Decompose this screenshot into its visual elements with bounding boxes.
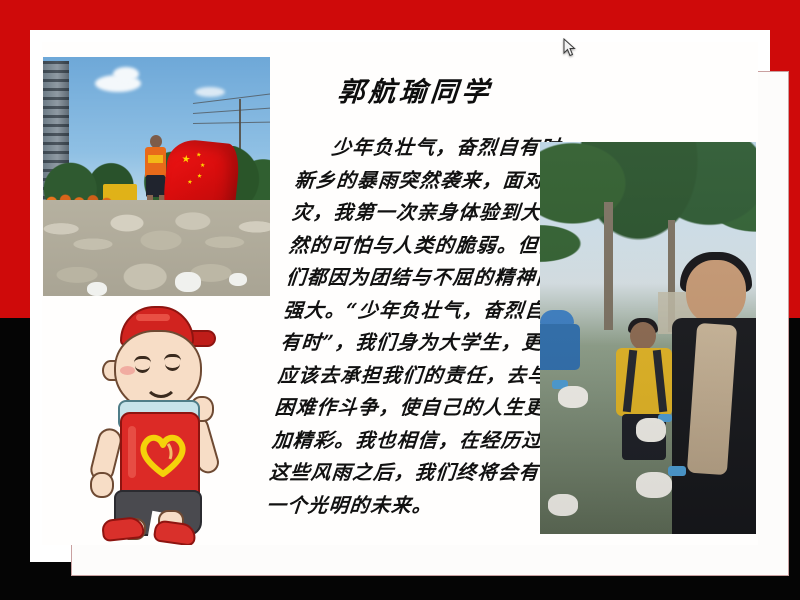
- glove-cuff: [668, 466, 686, 476]
- text-line: 强大。“少年负壮气，奋烈自: [282, 295, 551, 328]
- mascot-vest: [120, 412, 200, 498]
- text-line: 们都因为团结与不屈的精神而: [285, 262, 554, 295]
- text-line: 有时”，我们身为大学生，更: [279, 327, 548, 360]
- white-sandbag: [175, 272, 201, 292]
- text-line: 然的可怕与人类的脆弱。但我: [288, 230, 557, 263]
- volunteer-head: [686, 260, 746, 324]
- volunteer-foreground: [668, 260, 756, 534]
- person-vest: [145, 147, 166, 177]
- white-sandbag: [229, 273, 247, 286]
- photo-flag-on-sandbags[interactable]: ★ ★ ★ ★ ★: [43, 57, 270, 296]
- text-line: 一个光明的未来。: [265, 490, 534, 523]
- flag-star: ★: [181, 157, 191, 164]
- photo-volunteers-sandbag-chain[interactable]: [540, 142, 756, 534]
- mascot-shoe: [101, 516, 145, 542]
- text-line: 应该去承担我们的责任，去与: [276, 360, 545, 393]
- mascot-eye: [135, 364, 150, 373]
- volunteer-mascot: [58, 304, 254, 544]
- text-line: 加精彩。我也相信，在经历过: [271, 425, 540, 458]
- mascot-brow: [164, 354, 181, 361]
- text-line: 困难作斗争，使自己的人生更: [273, 392, 542, 425]
- work-glove: [636, 418, 666, 442]
- blue-cap: [540, 310, 574, 325]
- calligraphy-text-block: 郭航瑜同学 少年负壮气，奋烈自有时 新乡的暴雨突然袭来，面对天 灾，我第一次亲身…: [282, 54, 548, 534]
- flag-star: ★: [196, 174, 202, 181]
- mascot-eye: [165, 362, 180, 371]
- tree-trunk: [604, 202, 613, 330]
- text-line: 少年负壮气，奋烈自有时: [296, 132, 565, 165]
- cloud-shape: [195, 87, 225, 97]
- calligraphy-body: 少年负壮气，奋烈自有时 新乡的暴雨突然袭来，面对天 灾，我第一次亲身体验到大自 …: [265, 132, 565, 522]
- flag-star: ★: [196, 152, 202, 159]
- mascot-left-fist: [90, 472, 114, 498]
- heart-icon: [138, 430, 188, 478]
- work-glove: [558, 386, 588, 408]
- slide-root: ★ ★ ★ ★ ★: [0, 0, 800, 600]
- work-glove: [548, 494, 578, 516]
- volunteer-head: [630, 322, 656, 350]
- work-glove: [636, 472, 672, 498]
- slide-canvas: ★ ★ ★ ★ ★: [42, 42, 758, 545]
- mouse-cursor: [563, 38, 576, 57]
- text-line: 新乡的暴雨突然袭来，面对天: [293, 165, 562, 198]
- text-line: 灾，我第一次亲身体验到大自: [291, 197, 560, 230]
- page-title: 郭航瑜同学: [281, 76, 550, 110]
- flag-star: ★: [187, 180, 193, 187]
- text-line: 这些风雨之后，我们终将会有: [268, 457, 537, 490]
- mascot-brow: [134, 356, 151, 363]
- person-shorts: [146, 175, 165, 197]
- white-sandbag: [87, 282, 107, 296]
- mascot-blush: [120, 366, 135, 375]
- flag-star: ★: [200, 163, 206, 170]
- cloud-shape: [113, 67, 139, 81]
